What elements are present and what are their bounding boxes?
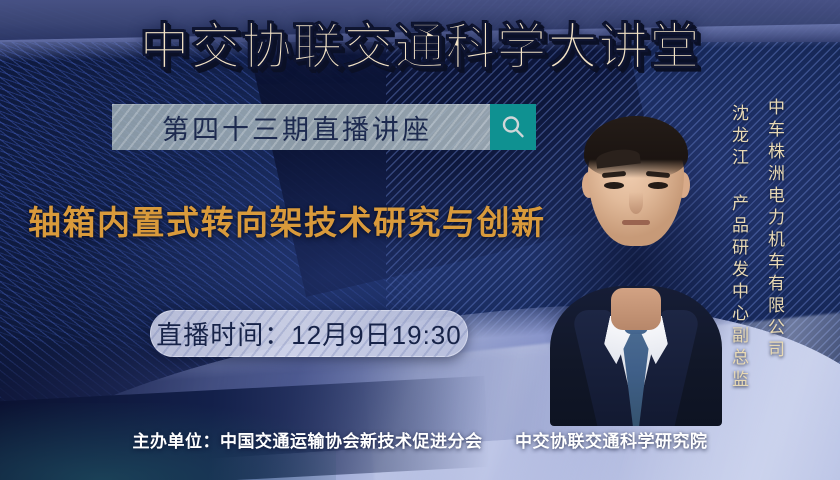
portrait-eye-left bbox=[604, 182, 624, 189]
search-button[interactable] bbox=[490, 104, 536, 150]
footer-organizer: 主办单位：中国交通运输协会新技术促进分会 bbox=[133, 432, 483, 451]
lecture-title: 轴箱内置式转向架技术研究与创新 bbox=[28, 196, 588, 244]
speaker-organization: 中车株洲电力机车有限公司 bbox=[762, 98, 787, 362]
speaker-name-and-role: 沈龙江 产品研发中心副总监 bbox=[726, 104, 751, 392]
portrait-eye-right bbox=[648, 182, 668, 189]
episode-banner: 第四十三期直播讲座 bbox=[112, 104, 536, 150]
page-title: 中交协联交通科学大讲堂 bbox=[0, 16, 840, 78]
broadcast-time-label: 直播时间：12月9日19:30 bbox=[156, 315, 461, 352]
portrait-neck bbox=[611, 288, 661, 330]
portrait-nose bbox=[629, 192, 643, 214]
portrait-mouth bbox=[622, 220, 650, 225]
episode-label: 第四十三期直播讲座 bbox=[112, 104, 490, 150]
broadcast-time-badge: 直播时间：12月9日19:30 bbox=[150, 310, 468, 357]
footer: 主办单位：中国交通运输协会新技术促进分会 中交协联交通科学研究院 bbox=[0, 427, 840, 452]
search-icon bbox=[499, 113, 527, 141]
speaker-portrait bbox=[548, 96, 724, 426]
live-lecture-poster: 中交协联交通科学大讲堂 第四十三期直播讲座 轴箱内置式转向架技术研究与创新 直播… bbox=[0, 0, 840, 480]
footer-institute: 中交协联交通科学研究院 bbox=[515, 432, 708, 451]
